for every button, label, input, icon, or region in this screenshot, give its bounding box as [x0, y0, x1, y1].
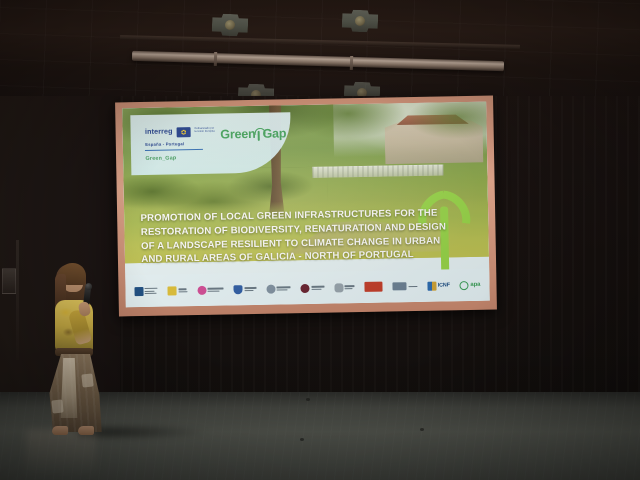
logo-divider	[145, 148, 203, 150]
eu-cofunding-caption: Cofinanciado por la Unión Europea	[195, 127, 217, 134]
partner-logo	[266, 282, 291, 295]
speaker-shoe-right	[78, 426, 94, 435]
floor-speck	[420, 428, 424, 431]
floor-speck	[306, 398, 310, 401]
partner-mark-icon	[334, 283, 343, 292]
sprout-icon	[254, 128, 263, 141]
partner-logo-icnf: ICNF	[427, 279, 450, 292]
partner-mark-icon	[234, 285, 243, 294]
partner-text-lines	[277, 287, 291, 291]
partner-text-lines	[244, 287, 256, 291]
partner-logo	[365, 280, 383, 293]
partner-logo	[393, 280, 418, 293]
partner-logo	[301, 281, 325, 294]
speaker-shoe-left	[52, 426, 68, 435]
partner-text-lines	[208, 288, 224, 292]
wall-edge-stripe	[16, 240, 19, 360]
photo-bridge-railing	[313, 165, 444, 178]
presentation-photo: interreg Cofinanciado por la Unión Europ…	[0, 0, 640, 480]
partner-logo	[234, 283, 257, 296]
partner-text-lines	[145, 288, 158, 294]
interreg-wordmark: interreg	[145, 128, 173, 136]
programme-name-label: Green_Gap	[145, 155, 176, 162]
speaker-person	[38, 262, 114, 438]
greengap-logo: Green Gap	[220, 127, 286, 142]
icnf-label: ICNF	[438, 282, 450, 288]
projection-screen-frame: interreg Cofinanciado por la Unión Europ…	[115, 96, 497, 317]
greengap-word-green: Green	[220, 127, 255, 142]
interreg-block: interreg Cofinanciado por la Unión Europ…	[145, 127, 217, 138]
speaker-skirt-patch	[81, 373, 93, 387]
partner-logo	[168, 284, 188, 297]
apa-mark-icon	[460, 281, 469, 290]
wall-panel	[2, 268, 16, 294]
partner-mark-icon	[197, 285, 206, 294]
presentation-slide: interreg Cofinanciado por la Unión Europ…	[122, 102, 490, 308]
partner-mark-icon	[301, 284, 310, 293]
partner-logo	[334, 281, 355, 294]
stage-light-fixture	[212, 13, 249, 36]
speaker-skirt-patch	[51, 399, 63, 413]
apa-label: apa	[470, 282, 480, 288]
partner-logo-strip: ICNF apa	[125, 269, 490, 307]
greengap-word-gap: Gap	[262, 127, 286, 141]
partner-text-lines	[178, 289, 187, 292]
stage-light-fixture	[342, 9, 379, 32]
partner-text-lines	[311, 286, 324, 290]
partner-logo-apa: apa	[460, 278, 481, 291]
partner-mark-icon	[365, 282, 383, 292]
partner-text-lines	[345, 286, 355, 289]
icnf-mark-icon	[427, 281, 436, 290]
partner-text-lines	[408, 286, 417, 287]
truss-post	[350, 56, 353, 70]
eu-flag-icon	[177, 127, 191, 137]
slide-title: PROMOTION OF LOCAL GREEN INFRASTRUCTURES…	[140, 207, 447, 267]
interreg-logo: interreg Cofinanciado por la Unión Europ…	[145, 127, 217, 138]
truss-post	[214, 52, 217, 66]
programme-pair-label: España - Portugal	[145, 142, 184, 148]
partner-mark-icon	[168, 286, 177, 295]
partner-mark-icon	[393, 282, 407, 290]
partner-logo	[197, 283, 224, 296]
projection-screen-surface: interreg Cofinanciado por la Unión Europ…	[122, 102, 490, 308]
floor-speck	[300, 438, 304, 441]
partner-mark-icon	[266, 284, 275, 293]
partner-logo	[134, 284, 158, 297]
partner-mark-icon	[134, 287, 143, 296]
